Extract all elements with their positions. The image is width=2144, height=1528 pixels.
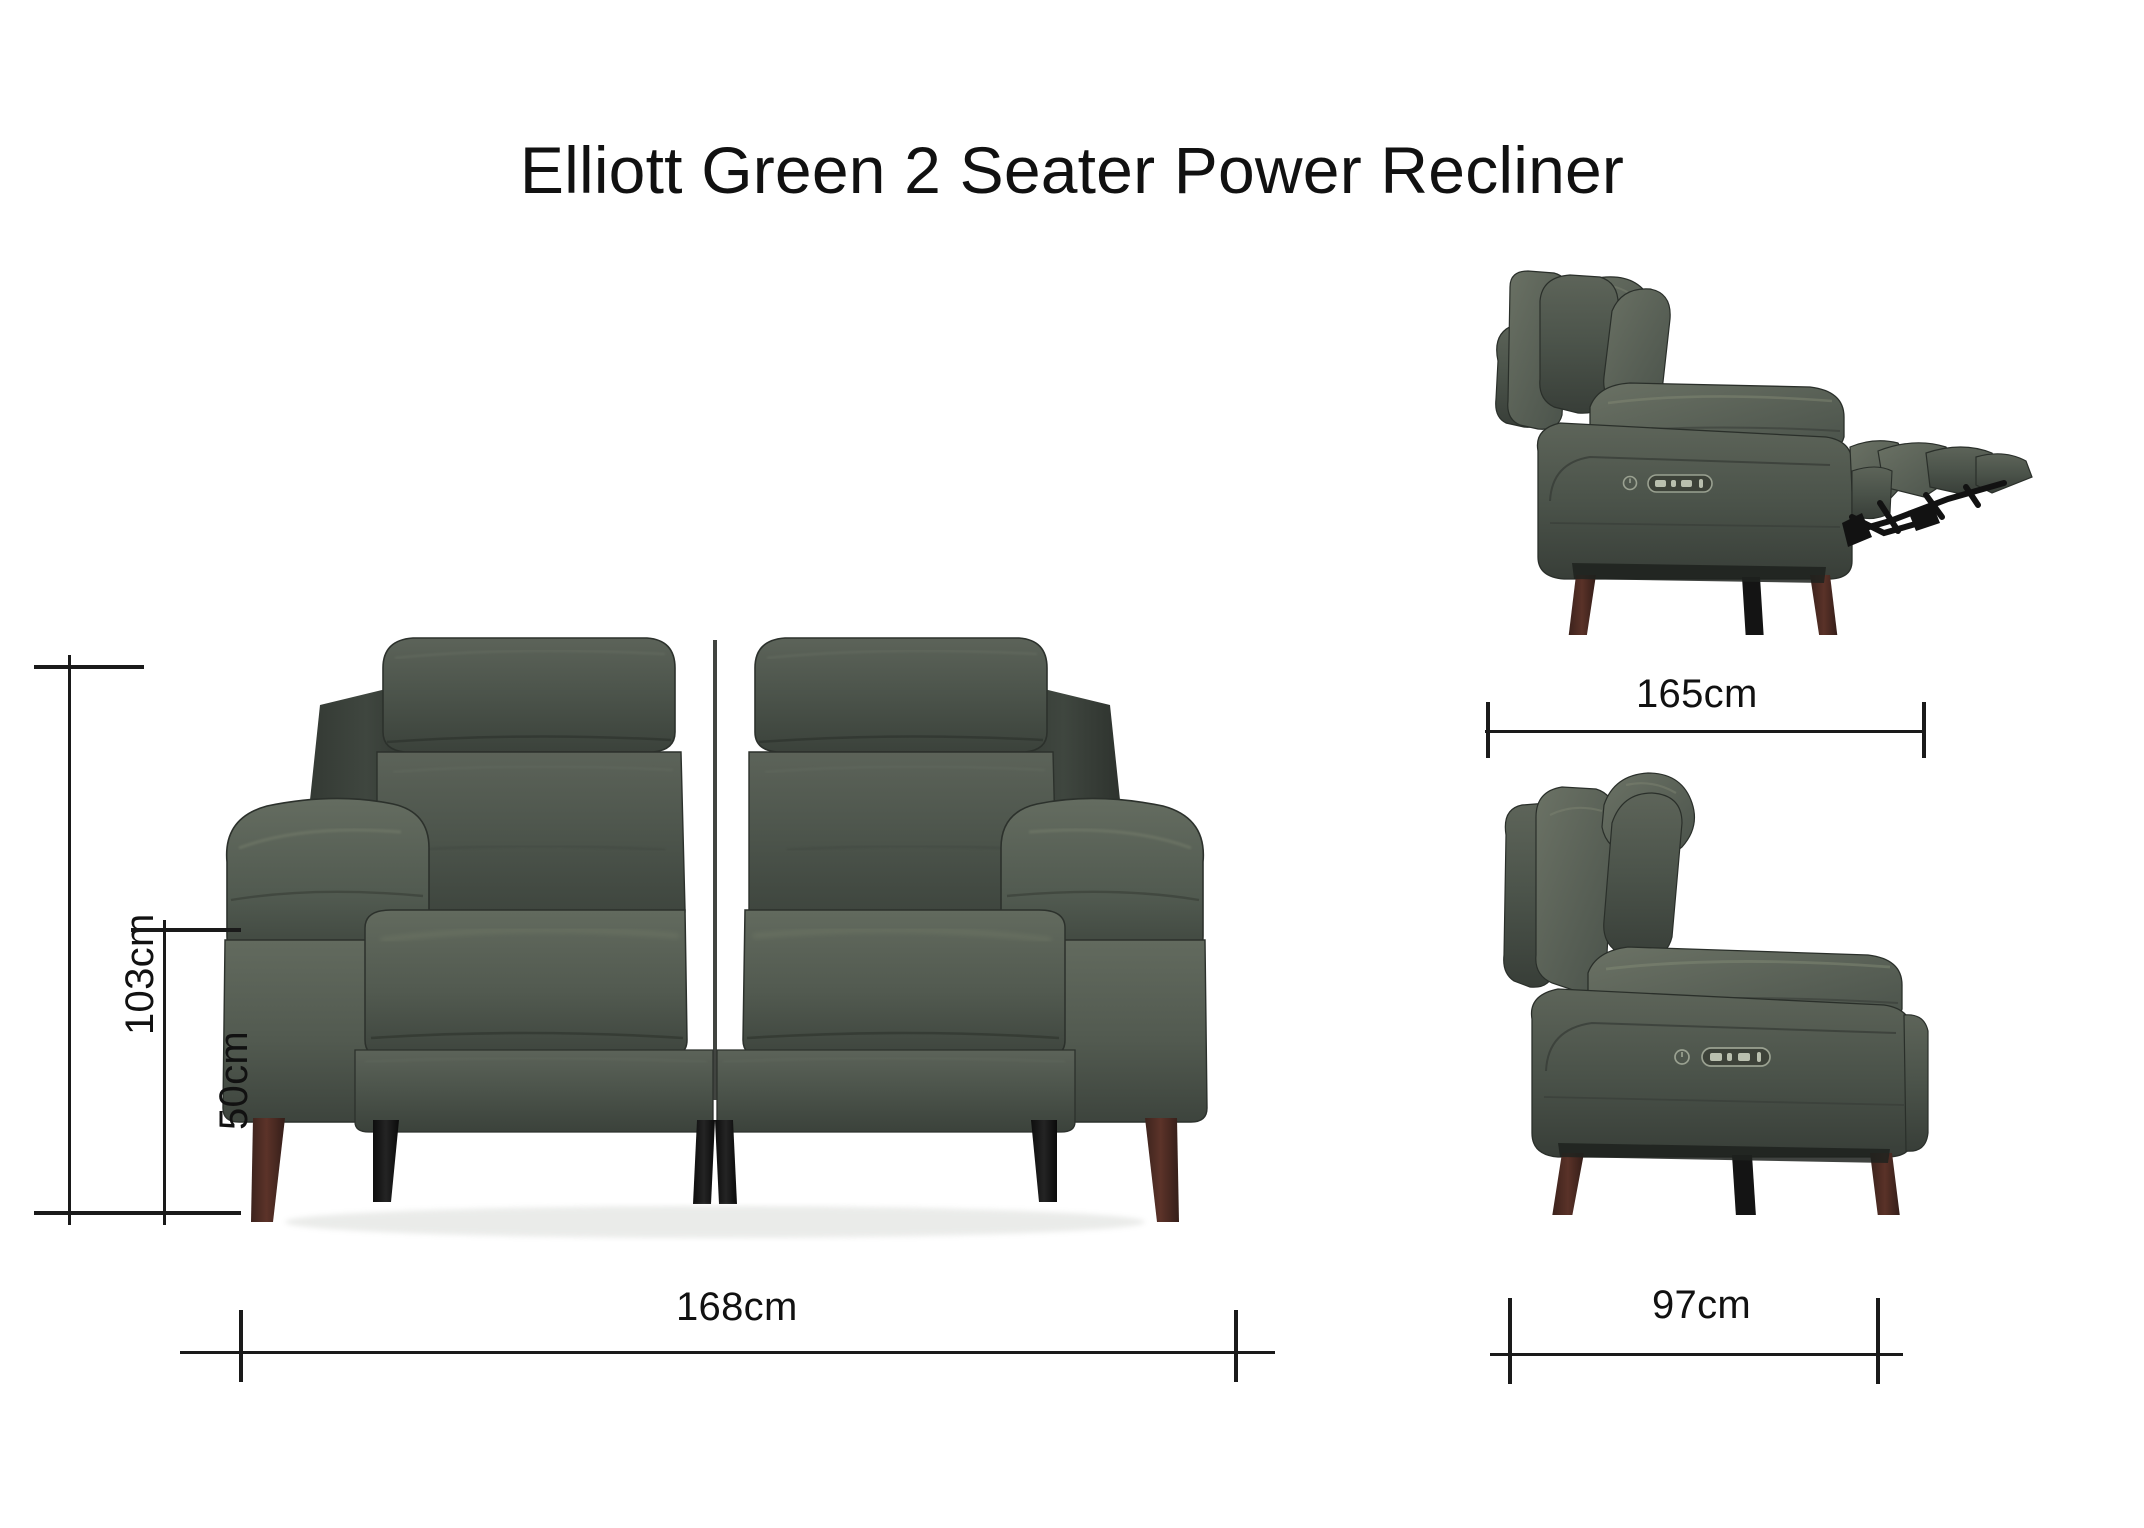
dim-line-50 xyxy=(163,920,166,1225)
dim-tick-165-left xyxy=(1486,702,1490,758)
dim-tick-103-bottom xyxy=(34,1211,144,1215)
page-title: Elliott Green 2 Seater Power Recliner xyxy=(0,132,2144,208)
diagram-canvas: Elliott Green 2 Seater Power Recliner xyxy=(0,0,2144,1528)
dim-tick-50-top xyxy=(131,928,241,932)
dim-line-165 xyxy=(1485,730,1925,733)
front-view-sofa-image xyxy=(215,610,1215,1250)
side-view-reclined-image xyxy=(1480,265,2040,635)
dim-label-width: 168cm xyxy=(676,1285,798,1330)
dim-tick-165-right xyxy=(1922,702,1926,758)
dim-tick-97-left xyxy=(1508,1298,1512,1384)
dim-line-103 xyxy=(68,655,71,1225)
dim-label-seat-height: 50cm xyxy=(212,1031,257,1130)
dim-label-reclined-depth: 165cm xyxy=(1636,672,1758,717)
dim-tick-168-left xyxy=(239,1310,243,1382)
dim-tick-50-bottom xyxy=(131,1211,241,1215)
dim-tick-103-top xyxy=(34,665,144,669)
dim-tick-168-right xyxy=(1234,1310,1238,1382)
dim-line-168 xyxy=(180,1351,1275,1354)
side-view-upright-image xyxy=(1500,765,1970,1215)
dim-line-97 xyxy=(1490,1353,1903,1356)
dim-tick-97-right xyxy=(1876,1298,1880,1384)
dim-label-depth: 97cm xyxy=(1652,1283,1751,1328)
